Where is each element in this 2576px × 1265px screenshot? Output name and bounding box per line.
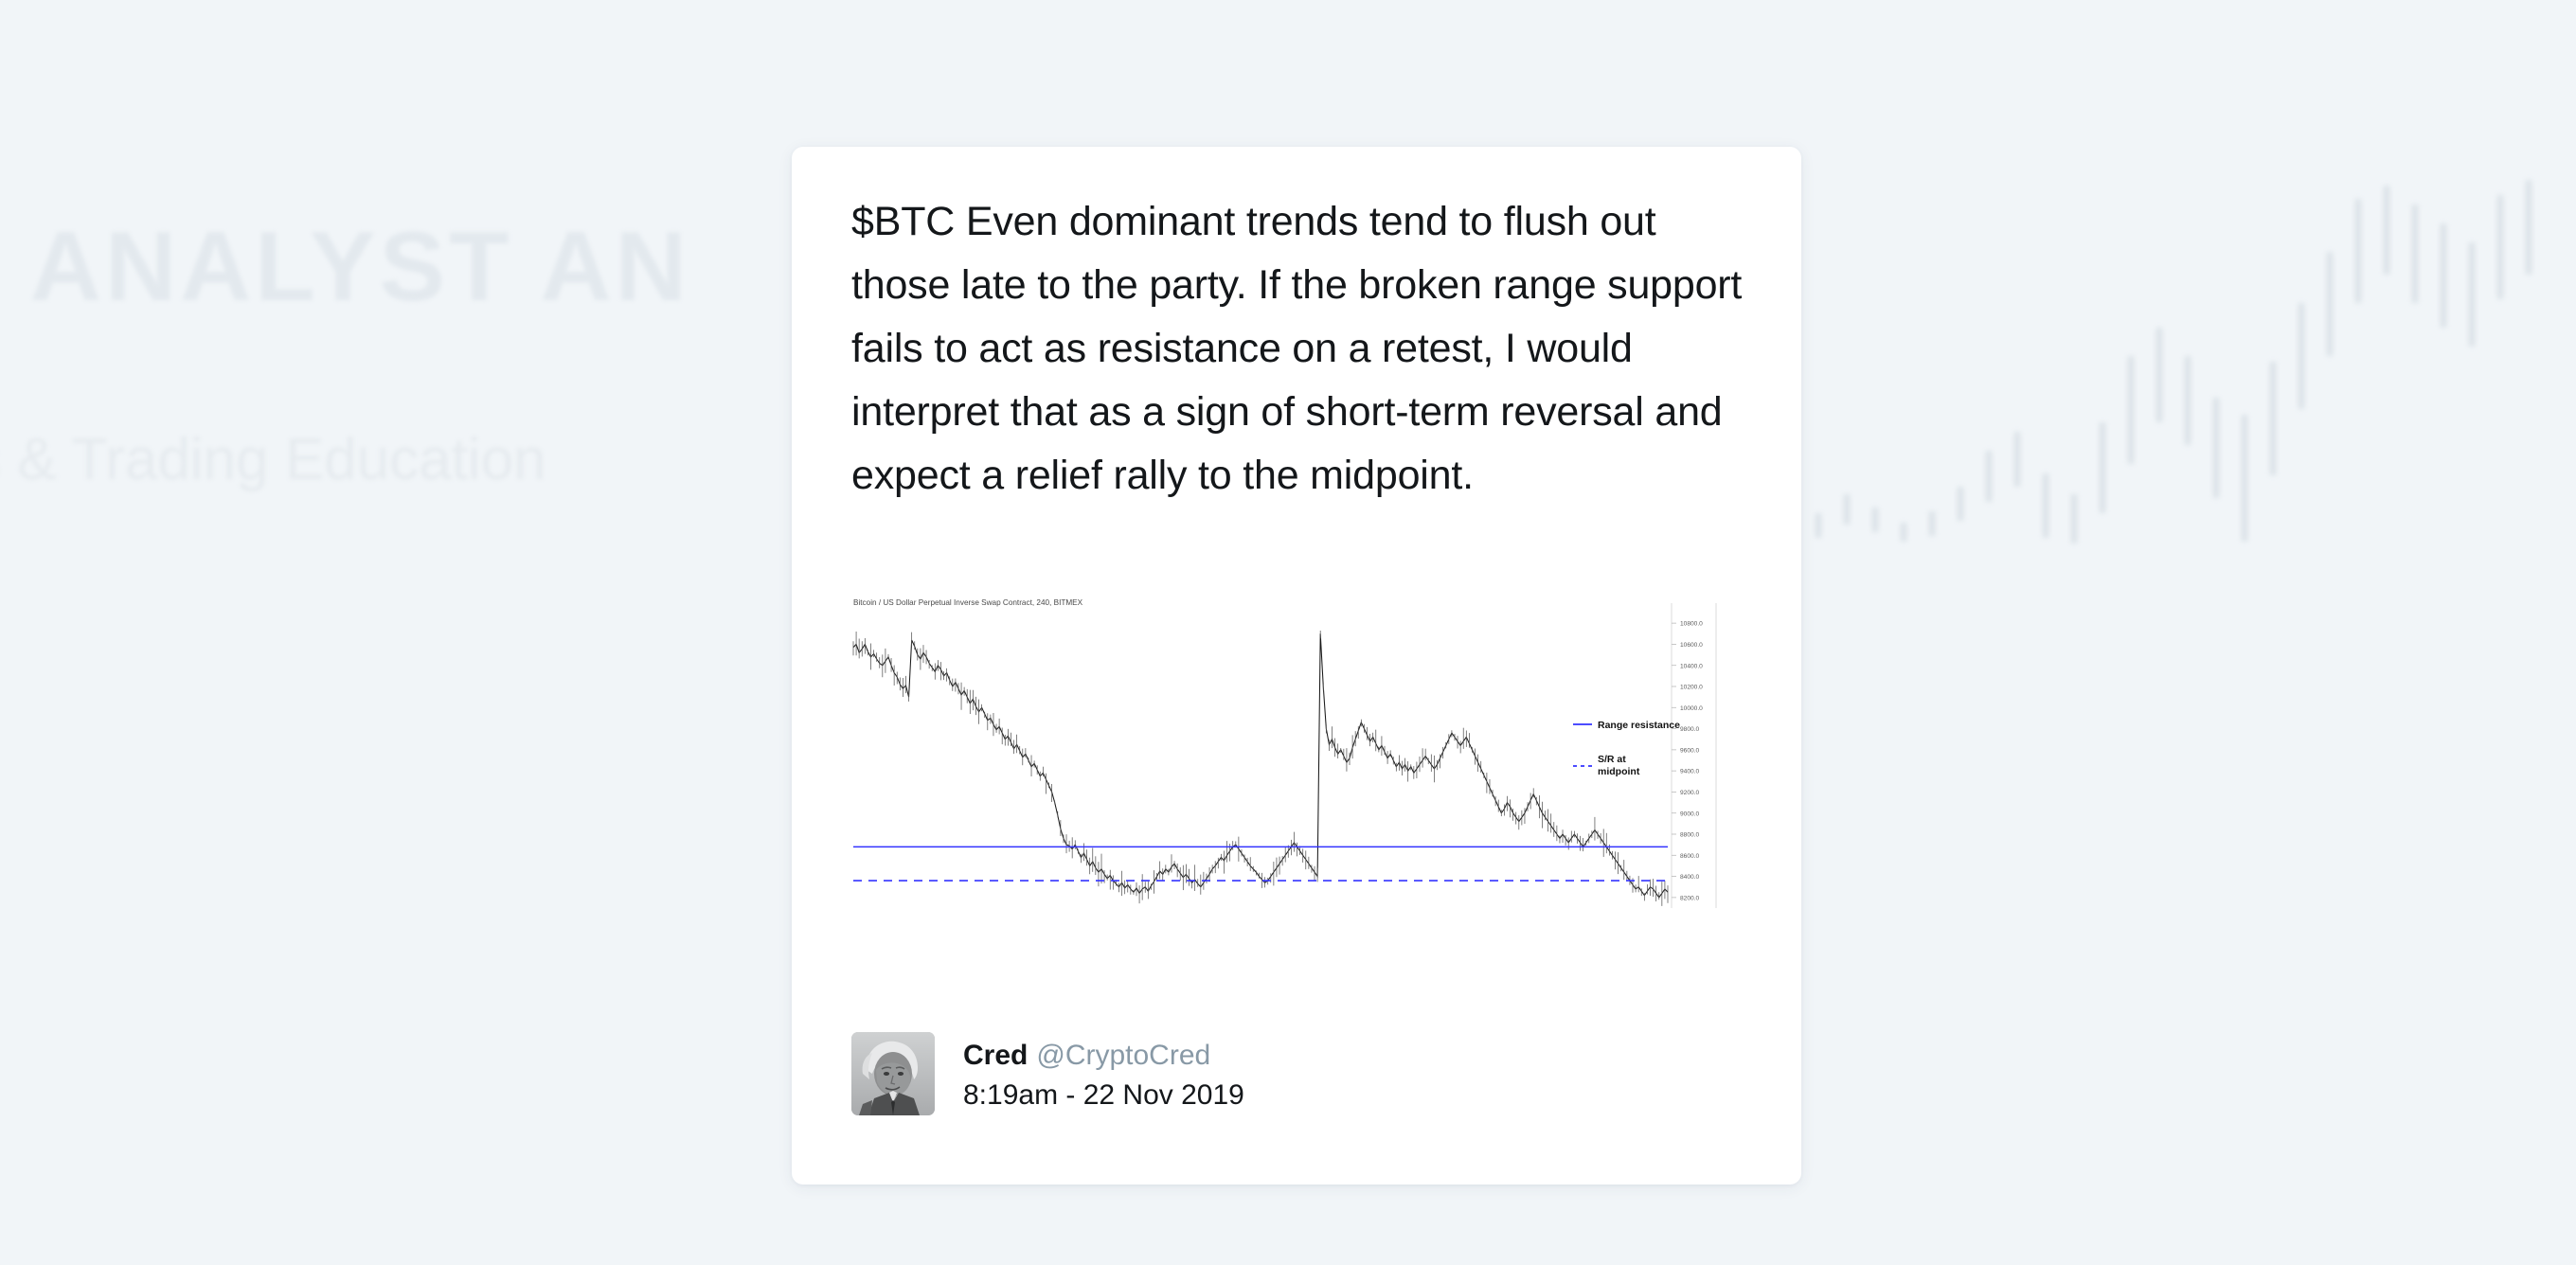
chart-annotation-lines: [853, 724, 1668, 881]
price-tick-label: 8400.0: [1680, 874, 1700, 881]
tweet-chart-image[interactable]: Bitcoin / US Dollar Perpetual Inverse Sw…: [851, 596, 1749, 908]
chart-annotation-labels: Range resistance S/R at midpoint: [1598, 720, 1680, 777]
price-tick-label: 10600.0: [1680, 642, 1703, 649]
author-meta: Cred@CryptoCred 8:19am - 22 Nov 2019: [963, 1032, 1244, 1114]
author-display-name: Cred: [963, 1040, 1028, 1071]
price-tick-label: 10200.0: [1680, 685, 1703, 691]
price-tick-label: 9200.0: [1680, 790, 1700, 796]
annotation-label-sr-midpoint-line1: S/R at: [1598, 754, 1626, 765]
chart-price-series: [853, 631, 1668, 906]
price-tick-label: 10800.0: [1680, 621, 1703, 628]
price-tick-label: 9000.0: [1680, 811, 1700, 817]
tweet-author-block: Cred@CryptoCred 8:19am - 22 Nov 2019: [851, 1032, 1244, 1115]
avatar-portrait-icon: [851, 1032, 935, 1115]
price-tick-label: 9600.0: [1680, 747, 1700, 754]
chart-price-axis: 10800.010600.010400.010200.010000.09800.…: [1672, 603, 1716, 908]
tweet-card: $BTC Even dominant trends tend to flush …: [792, 147, 1801, 1185]
watermark-subtitle: s & Trading Education: [0, 426, 546, 493]
background-candlestick-chart: [1724, 161, 2576, 568]
annotation-label-sr-midpoint-line2: midpoint: [1598, 766, 1640, 777]
price-tick-label: 10400.0: [1680, 663, 1703, 669]
author-name-row: Cred@CryptoCred: [963, 1038, 1244, 1074]
price-tick-label: 9400.0: [1680, 769, 1700, 775]
price-tick-label: 10000.0: [1680, 705, 1703, 712]
price-tick-label: 9800.0: [1680, 726, 1700, 733]
tweet-body-text: $BTC Even dominant trends tend to flush …: [851, 190, 1749, 508]
avatar[interactable]: [851, 1032, 935, 1115]
watermark-title: . ANALYST AN: [0, 218, 690, 316]
price-tick-label: 8800.0: [1680, 832, 1700, 839]
annotation-label-range-resistance: Range resistance: [1598, 720, 1680, 731]
price-tick-label: 8200.0: [1680, 895, 1700, 901]
chart-title: Bitcoin / US Dollar Perpetual Inverse Sw…: [853, 598, 1083, 607]
tweet-timestamp[interactable]: 8:19am - 22 Nov 2019: [963, 1078, 1244, 1114]
author-handle[interactable]: @CryptoCred: [1036, 1040, 1210, 1071]
price-tick-label: 8600.0: [1680, 853, 1700, 860]
